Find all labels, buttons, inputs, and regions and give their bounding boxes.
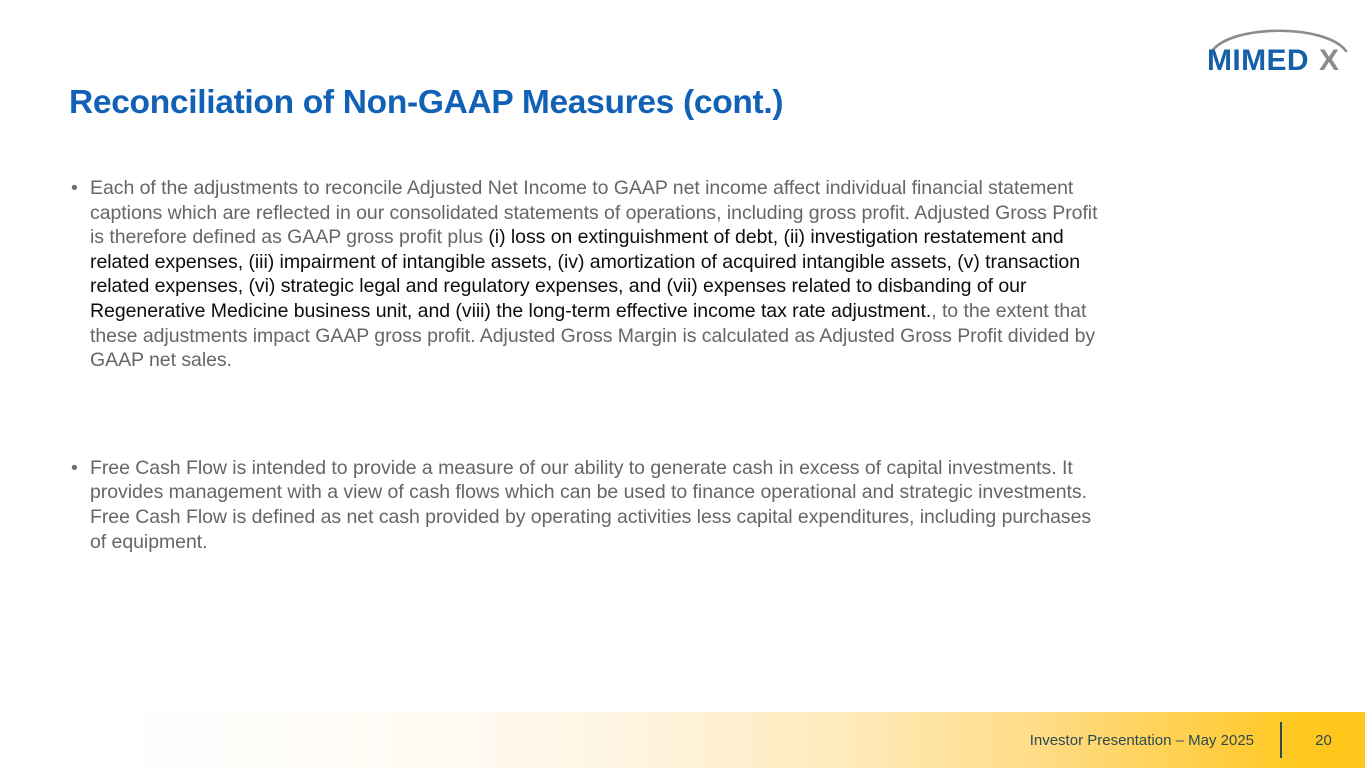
slide-body: • Each of the adjustments to reconcile A… bbox=[69, 176, 1109, 554]
mimedx-logo: MIMED X bbox=[1206, 26, 1352, 76]
slide: MIMED X Reconciliation of Non-GAAP Measu… bbox=[0, 0, 1365, 768]
list-item: • Free Cash Flow is intended to provide … bbox=[69, 456, 1109, 554]
bullet-segment-plain: Free Cash Flow is intended to provide a … bbox=[90, 457, 1091, 553]
bullet-marker: • bbox=[69, 456, 90, 481]
bullet-marker: • bbox=[69, 176, 90, 201]
bullet-paragraph-free-cash-flow: Free Cash Flow is intended to provide a … bbox=[90, 456, 1109, 554]
page-title: Reconciliation of Non-GAAP Measures (con… bbox=[69, 84, 783, 122]
footer-bar: Investor Presentation – May 2025 20 bbox=[100, 712, 1365, 768]
list-item: • Each of the adjustments to reconcile A… bbox=[69, 176, 1109, 373]
footer-page-number: 20 bbox=[1282, 732, 1365, 749]
footer-presentation-label: Investor Presentation – May 2025 bbox=[1030, 732, 1280, 749]
bullet-paragraph-adjusted-gross-profit: Each of the adjustments to reconcile Adj… bbox=[90, 176, 1109, 373]
footer-content: Investor Presentation – May 2025 20 bbox=[1030, 712, 1365, 768]
mimedx-logo-graphic: MIMED X bbox=[1206, 26, 1352, 76]
mimedx-logo-wordmark-gray: X bbox=[1319, 44, 1339, 76]
mimedx-logo-wordmark-blue: MIMED bbox=[1207, 44, 1309, 76]
